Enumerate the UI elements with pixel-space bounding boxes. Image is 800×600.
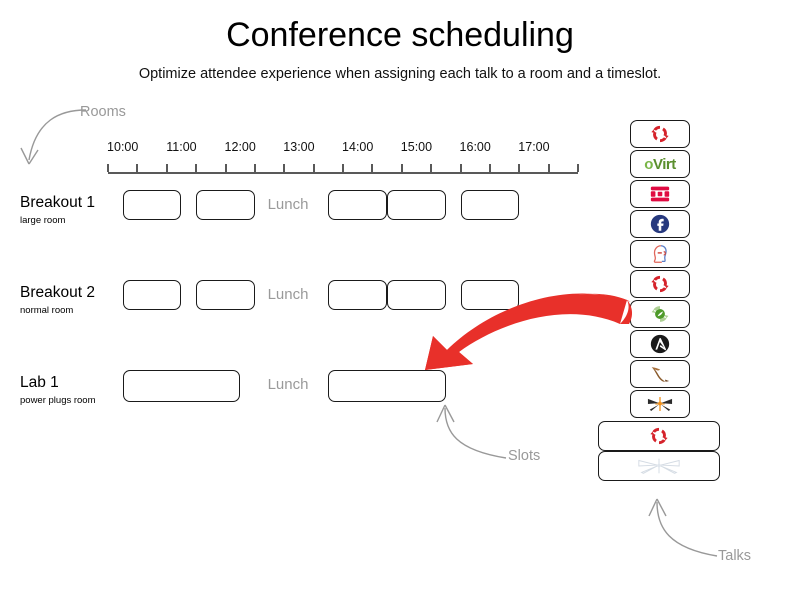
schedule-slot[interactable] <box>123 370 241 402</box>
room-subtitle: power plugs room <box>20 395 96 406</box>
schedule-slot[interactable] <box>196 280 255 310</box>
schedule-slot[interactable] <box>461 190 520 220</box>
ansible-a-icon <box>649 333 671 355</box>
optaplanner-dragonfly-icon <box>647 394 673 414</box>
talk-card[interactable] <box>630 390 690 418</box>
axis-tick-minor <box>342 164 344 172</box>
slide-canvas: Conference scheduling Optimize attendee … <box>0 0 800 600</box>
axis-tick-label: 10:00 <box>107 140 138 154</box>
openshift-square-icon <box>649 183 671 205</box>
lunch-label: Lunch <box>268 286 309 303</box>
schedule-slot[interactable] <box>328 190 387 220</box>
schedule-slot[interactable] <box>328 370 446 402</box>
schedule-slot[interactable] <box>196 190 255 220</box>
room-name: Lab 1 <box>20 374 59 392</box>
axis-tick-label: 14:00 <box>342 140 373 154</box>
room-subtitle: large room <box>20 215 65 226</box>
jboss-circular-arrows-icon <box>649 273 671 295</box>
talk-card-wide[interactable] <box>598 451 720 481</box>
ovirt-wordmark-icon: oVirt <box>644 156 675 173</box>
axis-tick-minor <box>195 164 197 172</box>
talk-card[interactable] <box>630 180 690 208</box>
axis-tick-minor <box>577 164 579 172</box>
green-circular-arrows-icon <box>649 303 671 325</box>
axis-tick-minor <box>107 164 109 172</box>
axis-tick-minor <box>254 164 256 172</box>
axis-tick-label: 16:00 <box>460 140 491 154</box>
talk-card[interactable]: oVirt <box>630 150 690 178</box>
talks-annotation-arrow <box>645 496 721 562</box>
axis-baseline <box>108 172 578 174</box>
axis-tick-minor <box>548 164 550 172</box>
talk-card-wide[interactable] <box>598 421 720 451</box>
axis-tick-minor <box>430 164 432 172</box>
jboss-circular-arrows-icon <box>649 123 671 145</box>
axis-tick-minor <box>371 164 373 172</box>
axis-tick-minor <box>518 164 520 172</box>
axis-tick-label: 15:00 <box>401 140 432 154</box>
talk-card[interactable] <box>630 120 690 148</box>
axis-tick-label: 11:00 <box>166 140 196 154</box>
schedule-slot[interactable] <box>123 280 182 310</box>
slots-annotation-label: Slots <box>508 448 540 464</box>
axis-tick-label: 13:00 <box>283 140 314 154</box>
axis-tick-minor <box>136 164 138 172</box>
face-profile-icon <box>649 243 671 265</box>
talks-annotation-label: Talks <box>718 548 751 564</box>
page-subtitle: Optimize attendee experience when assign… <box>0 66 800 82</box>
axis-tick-minor <box>283 164 285 172</box>
page-title: Conference scheduling <box>0 16 800 55</box>
fedora-f-icon <box>649 213 671 235</box>
room-name: Breakout 2 <box>20 284 95 302</box>
axis-tick-minor <box>489 164 491 172</box>
assignment-red-arrow <box>415 262 640 372</box>
axis-tick-minor <box>401 164 403 172</box>
camel-boomerang-icon <box>648 363 672 385</box>
room-name: Breakout 1 <box>20 194 95 212</box>
talk-card[interactable] <box>630 210 690 238</box>
schedule-slot[interactable] <box>328 280 387 310</box>
jboss-circular-arrows-icon <box>648 425 670 447</box>
lunch-label: Lunch <box>268 196 309 213</box>
axis-tick-minor <box>313 164 315 172</box>
axis-tick-minor <box>166 164 168 172</box>
axis-tick-minor <box>225 164 227 172</box>
axis-tick-label: 17:00 <box>518 140 549 154</box>
axis-tick-label: 12:00 <box>225 140 256 154</box>
lunch-label: Lunch <box>268 376 309 393</box>
rooms-annotation-label: Rooms <box>80 104 126 120</box>
axis-tick-minor <box>460 164 462 172</box>
dragonfly-faded-icon <box>637 455 681 477</box>
room-subtitle: normal room <box>20 305 73 316</box>
slots-annotation-arrow <box>436 402 512 464</box>
schedule-slot[interactable] <box>123 190 182 220</box>
schedule-slot[interactable] <box>387 190 446 220</box>
